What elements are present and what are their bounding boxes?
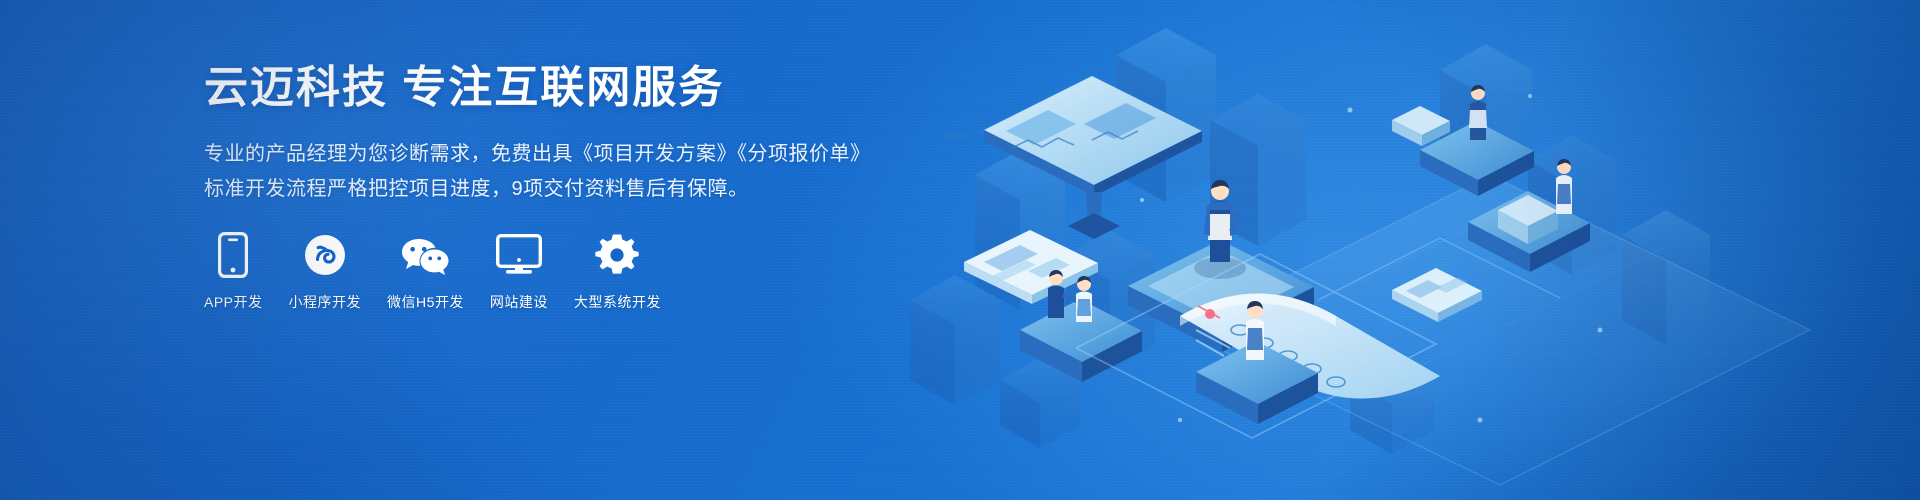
service-label: 微信H5开发	[387, 292, 464, 312]
gear-icon	[595, 232, 639, 278]
person-mid-right	[1556, 159, 1572, 214]
person-seated-left-2	[1076, 276, 1092, 322]
wechat-icon	[400, 232, 450, 278]
mini-program-icon	[304, 232, 346, 278]
service-item-website[interactable]: 网站建设	[490, 232, 548, 312]
service-label: 大型系统开发	[574, 292, 661, 312]
service-item-wechat-h5[interactable]: 微信H5开发	[387, 232, 464, 312]
service-label: 网站建设	[490, 292, 548, 312]
service-label: 小程序开发	[289, 292, 362, 312]
service-item-app[interactable]: APP开发	[204, 232, 263, 312]
service-item-large-system[interactable]: 大型系统开发	[574, 232, 661, 312]
subtitle-line-1: 专业的产品经理为您诊断需求，免费出具《项目开发方案》《分项报价单》	[204, 137, 924, 172]
monitor-icon	[496, 232, 542, 278]
service-list: APP开发 小程序开发	[204, 232, 661, 312]
person-upper-right	[1469, 85, 1487, 140]
hero-banner: 云迈科技 专注互联网服务 专业的产品经理为您诊断需求，免费出具《项目开发方案》《…	[0, 0, 1920, 500]
person-front-right	[1246, 301, 1264, 360]
service-label: APP开发	[204, 292, 263, 312]
hero-copy: 云迈科技 专注互联网服务 专业的产品经理为您诊断需求，免费出具《项目开发方案》《…	[204, 62, 924, 207]
page-title: 云迈科技 专注互联网服务	[204, 62, 924, 115]
mobile-phone-icon	[218, 232, 248, 278]
subtitle-line-2: 标准开发流程严格把控项目进度，9项交付资料售后有保障。	[204, 172, 924, 207]
isometric-tech-team-illustration	[880, 0, 1920, 500]
service-item-miniprogram[interactable]: 小程序开发	[289, 232, 362, 312]
